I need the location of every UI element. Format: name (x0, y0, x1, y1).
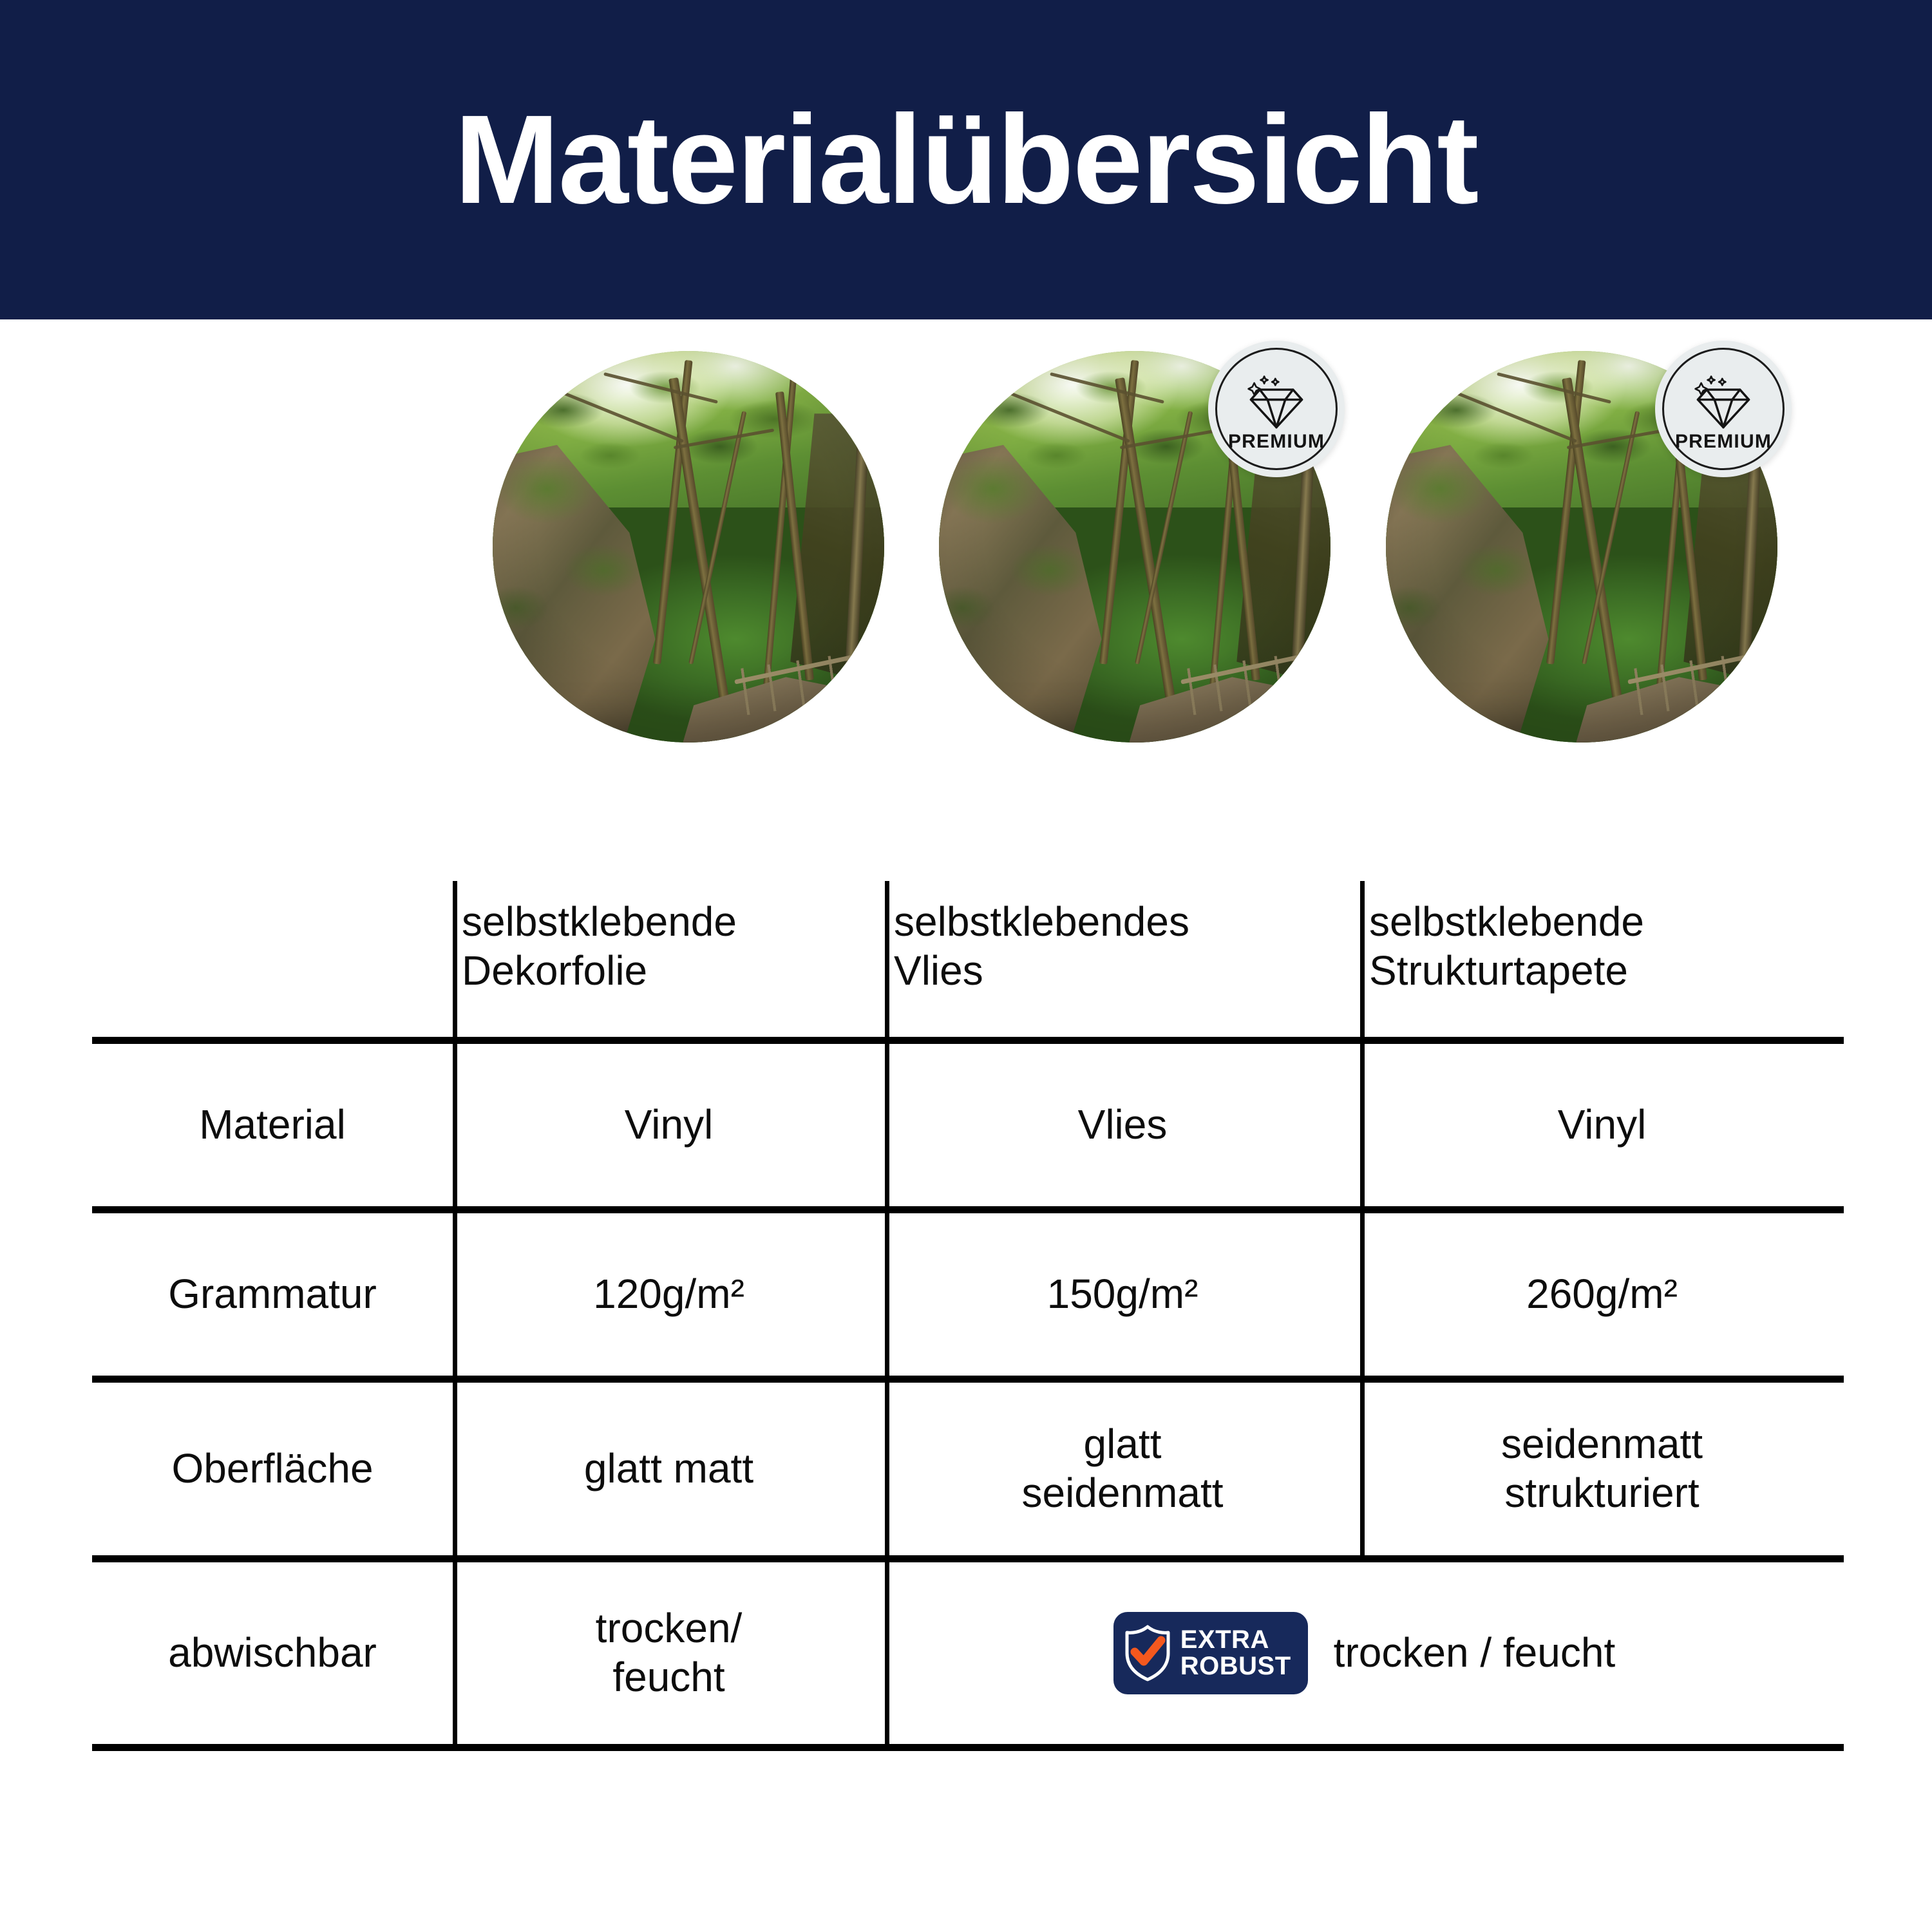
row-label-material: Material (92, 1044, 453, 1206)
row-label-abwischbar: abwischbar (92, 1562, 453, 1744)
robust-line-2: ROBUST (1180, 1653, 1291, 1680)
value-line-1: seidenmatt (1501, 1420, 1703, 1469)
cell-material-strukturtapete: Vinyl (1360, 1044, 1844, 1206)
premium-badge: PREMIUM (1655, 341, 1792, 477)
page-header-banner: Materialübersicht (0, 0, 1932, 319)
table-header-dekorfolie: selbstklebende Dekorfolie (453, 881, 885, 1037)
premium-badge-label: PREMIUM (1675, 432, 1772, 451)
product-circle-dekorfolie[interactable] (493, 351, 884, 743)
premium-badge-label: PREMIUM (1228, 432, 1325, 451)
header-line-2: Dekorfolie (462, 947, 737, 996)
robust-line-1: EXTRA (1180, 1627, 1291, 1653)
header-line-1: selbstklebende (1369, 898, 1644, 947)
table-row: Grammatur 120g/m² 150g/m² 260g/m² (92, 1213, 1844, 1376)
cell-oberflaeche-dekorfolie: glatt matt (453, 1383, 885, 1555)
extra-robust-badge: EXTRA ROBUST (1113, 1612, 1308, 1694)
value-line-2: strukturiert (1501, 1469, 1703, 1518)
cell-oberflaeche-vlies: glatt seidenmatt (885, 1383, 1360, 1555)
cell-grammatur-vlies: 150g/m² (885, 1213, 1360, 1376)
diamond-icon (1689, 374, 1757, 430)
row-divider (92, 1744, 1844, 1751)
row-divider (92, 1037, 1844, 1044)
value-line-1: glatt (1021, 1420, 1223, 1469)
shield-check-icon (1124, 1625, 1171, 1681)
material-overview-page: Materialübersicht (0, 0, 1932, 1932)
table-header-vlies: selbstklebendes Vlies (885, 881, 1360, 1037)
diamond-icon (1242, 374, 1311, 430)
cell-abwischbar-merged: EXTRA ROBUST trocken / feucht (885, 1562, 1844, 1744)
cell-abwischbar-dekorfolie: trocken/ feucht (453, 1562, 885, 1744)
header-line-1: selbstklebende (462, 898, 737, 947)
header-line-1: selbstklebendes (894, 898, 1189, 947)
cell-material-dekorfolie: Vinyl (453, 1044, 885, 1206)
premium-badge: PREMIUM (1208, 341, 1345, 477)
product-image-row: PREMIUM (0, 351, 1932, 750)
cell-grammatur-strukturtapete: 260g/m² (1360, 1213, 1844, 1376)
cell-grammatur-dekorfolie: 120g/m² (453, 1213, 885, 1376)
row-divider (92, 1555, 1844, 1562)
product-circle-strukturtapete[interactable]: PREMIUM (1386, 351, 1777, 743)
value-line-1: trocken/ (596, 1604, 743, 1653)
table-header-strukturtapete: selbstklebende Strukturtapete (1360, 881, 1844, 1037)
table-header-row: selbstklebende Dekorfolie selbstklebende… (92, 881, 1844, 1037)
row-label-oberflaeche: Oberfläche (92, 1383, 453, 1555)
extra-robust-text: EXTRA ROBUST (1180, 1627, 1291, 1680)
value-line-2: feucht (596, 1653, 743, 1702)
product-circle-vlies[interactable]: PREMIUM (939, 351, 1331, 743)
value-line-2: seidenmatt (1021, 1469, 1223, 1518)
row-divider (92, 1376, 1844, 1383)
cell-oberflaeche-strukturtapete: seidenmatt strukturiert (1360, 1383, 1844, 1555)
table-header-corner (92, 881, 453, 1037)
material-comparison-table: selbstklebende Dekorfolie selbstklebende… (92, 881, 1844, 1751)
row-label-grammatur: Grammatur (92, 1213, 453, 1376)
page-title: Materialübersicht (455, 97, 1478, 223)
table-row: Oberfläche glatt matt glatt seidenmatt s… (92, 1383, 1844, 1555)
header-line-2: Vlies (894, 947, 1189, 996)
cell-abwischbar-merged-value: trocken / feucht (1334, 1629, 1616, 1678)
table-row: Material Vinyl Vlies Vinyl (92, 1044, 1844, 1206)
table-row: abwischbar trocken/ feucht EXTR (92, 1562, 1844, 1744)
row-divider (92, 1206, 1844, 1213)
header-line-2: Strukturtapete (1369, 947, 1644, 996)
cell-material-vlies: Vlies (885, 1044, 1360, 1206)
product-photo (493, 351, 884, 743)
